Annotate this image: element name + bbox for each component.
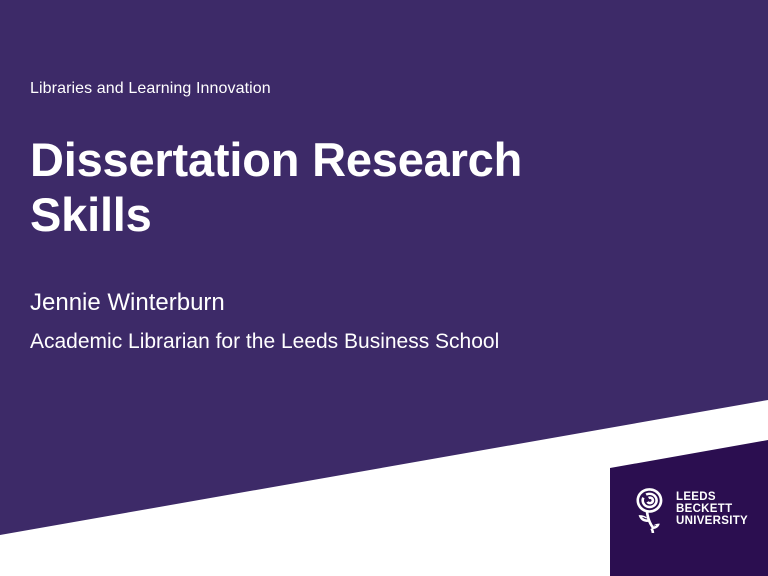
page-title: Dissertation Research Skills: [30, 133, 610, 243]
title-slide: Libraries and Learning Innovation Disser…: [0, 0, 768, 576]
university-logo: LEEDS BECKETT UNIVERSITY: [632, 486, 748, 534]
presenter-role: Academic Librarian for the Leeds Busines…: [30, 330, 499, 354]
presenter-name: Jennie Winterburn: [30, 289, 225, 317]
rose-icon: [632, 486, 668, 534]
logo-line-3: UNIVERSITY: [676, 516, 748, 528]
logo-wordmark: LEEDS BECKETT UNIVERSITY: [676, 492, 748, 528]
department-eyebrow: Libraries and Learning Innovation: [30, 80, 271, 98]
logo-plate: LEEDS BECKETT UNIVERSITY: [610, 440, 768, 576]
